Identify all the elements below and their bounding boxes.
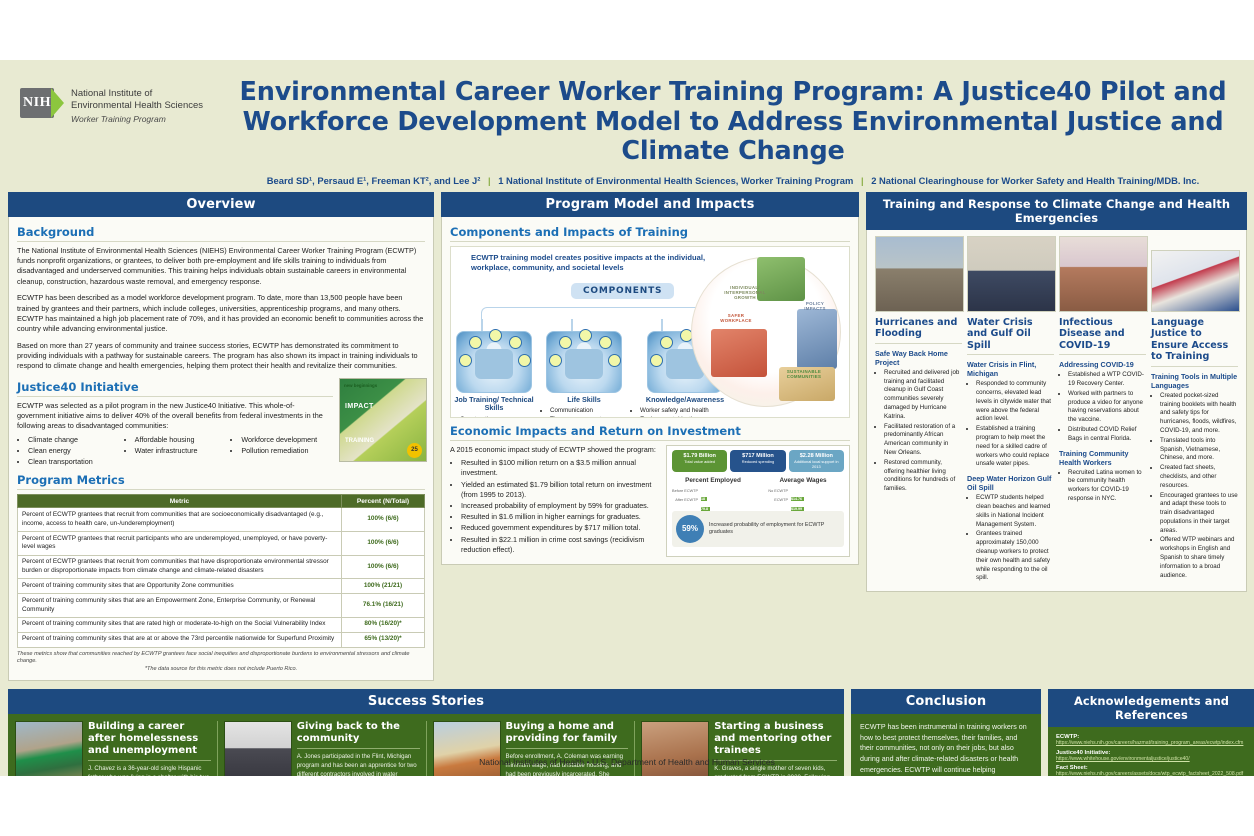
card-bullets: Responded to community concerns, elevate… [967, 380, 1054, 469]
percent-cell: 100% (6/6) [342, 532, 425, 556]
metrics-table-body: Percent of ECWTP grantees that recruit f… [18, 508, 425, 647]
bar-track: $19.99 [791, 497, 844, 504]
card-subhead-2: Training Community Health Workers [1059, 449, 1146, 467]
components-pill: COMPONENTS [571, 283, 674, 299]
cover-training-label: TRAINING [345, 438, 374, 445]
list-item: Water infrastructure [135, 446, 227, 456]
graphic-caption: ECWTP training model creates positive im… [451, 247, 721, 274]
card-bullets: Created pocket-sized training booklets w… [1151, 392, 1238, 581]
stat-label: Total value added [674, 460, 725, 465]
justice40-text-block: Justice40 Initiative ECWTP was selected … [17, 378, 333, 469]
list-item: Recruited Latina women to be community h… [1068, 469, 1146, 504]
nih-logo-arrow-icon [51, 88, 64, 118]
skill-dot-icon [559, 336, 572, 349]
component-cluster-job-training: Job Training/ Technical Skills Construct… [451, 331, 537, 418]
skill-dot-icon [489, 329, 502, 342]
list-item: Construction [460, 416, 537, 418]
training-card-water-crisis: Water Crisis and Gulf Oil Spill Water Cr… [967, 236, 1054, 584]
metric-cell: Percent of training community sites that… [18, 579, 342, 594]
economic-impacts-heading: Economic Impacts and Return on Investmen… [450, 424, 850, 441]
nih-logo: NIH National Institute of Environmental … [14, 74, 232, 125]
program-metrics-heading: Program Metrics [17, 473, 425, 490]
column-training-response: Training and Response to Climate Change … [866, 192, 1247, 592]
card-bullets-2: ECWTP students helped clean beaches and … [967, 494, 1054, 583]
chart-percent-employed: Percent Employed Before ECWTP 18 After E… [672, 477, 754, 506]
chart-title: Average Wages [762, 477, 844, 484]
roi-description: Increased probability of employment for … [709, 522, 840, 536]
bar-fill: 79.8 [701, 507, 710, 511]
bar-row: No ECWTP $14.76 [762, 487, 844, 494]
graphic-connector-tick-3 [661, 319, 663, 331]
card-title: Hurricanes and Flooding [875, 317, 962, 344]
percent-cell: 100% (21/21) [342, 579, 425, 594]
impacts-illustration: INDIVIDUAL/ INTERPERSONAL GROWTH SAFER W… [685, 251, 845, 411]
training-card-covid: Infectious Disease and COVID-19 Addressi… [1059, 236, 1146, 584]
story-title: Starting a business and mentoring other … [714, 721, 837, 761]
author-divider-1: | [483, 175, 496, 186]
author-line: Beard SD¹, Persaud E¹, Freeman KT², and … [232, 175, 1234, 186]
card-subhead: Safe Way Back Home Project [875, 349, 962, 367]
main-columns: Overview Background The National Institu… [0, 192, 1254, 681]
card-title: Infectious Disease and COVID-19 [1059, 317, 1146, 356]
nih-logo-icon: NIH [20, 88, 64, 118]
section-header-training-response: Training and Response to Climate Change … [866, 192, 1247, 230]
card-bullets: Recruited and delivered job training and… [875, 369, 962, 494]
list-item: Environmental justice [640, 416, 739, 418]
training-model-graphic: ECWTP training model creates positive im… [450, 246, 850, 418]
metric-cell: Percent of ECWTP grantees that recruit f… [18, 555, 342, 579]
impact-label-policy: POLICY IMPACTS [795, 301, 835, 311]
list-item: Offered WTP webinars and workshops in En… [1160, 536, 1238, 580]
bar-category-label: ECWTP [762, 498, 788, 502]
nih-logo-line3: Worker Training Program [71, 114, 203, 124]
bar-track: 79.8 [701, 497, 754, 504]
affiliation-2: 2 National Clearinghouse for Worker Safe… [871, 175, 1199, 186]
impact-label-community: SUSTAINABLE COMMUNITIES [777, 369, 831, 379]
percent-cell: 65% (13/20)* [342, 632, 425, 647]
table-row: Percent of ECWTP grantees that recruit p… [18, 532, 425, 556]
section-header-conclusion: Conclusion [851, 689, 1041, 714]
story-title: Giving back to the community [297, 721, 420, 749]
roi-percent-badge: 59% [676, 515, 704, 543]
percent-cell: 100% (6/6) [342, 555, 425, 579]
metric-cell: Percent of training community sites that… [18, 594, 342, 618]
poster-header: NIH National Institute of Environmental … [0, 60, 1254, 192]
component-cluster-life-skills: Life Skills Communication Time managemen… [541, 331, 627, 418]
economic-impacts-row: A 2015 economic impact study of ECWTP sh… [450, 445, 850, 557]
card-subhead: Addressing COVID-19 [1059, 360, 1146, 369]
cluster-items: Construction General industry safety Mol… [451, 416, 537, 418]
justice40-intro: ECWTP was selected as a pilot program in… [17, 401, 333, 432]
nih-logo-line1: National Institute of [71, 88, 203, 100]
list-item: Responded to community concerns, elevate… [976, 380, 1054, 424]
table-row: Percent of training community sites that… [18, 579, 425, 594]
list-item: Translated tools into Spanish, Vietnames… [1160, 437, 1238, 463]
training-response-panel: Hurricanes and Flooding Safe Way Back Ho… [866, 230, 1247, 592]
card-subhead: Water Crisis in Flint, Michigan [967, 360, 1054, 378]
section-header-acknowledgements: Acknowledgements and References [1048, 689, 1254, 727]
poster-footer: National Institutes of Health • U.S. Dep… [0, 757, 1254, 776]
chart-title: Percent Employed [672, 477, 754, 484]
stat-box-reduced-spending: $717 Million Reduced spending [730, 450, 785, 473]
training-card-hurricanes: Hurricanes and Flooding Safe Way Back Ho… [875, 236, 962, 584]
program-model-panel: Components and Impacts of Training ECWTP… [441, 217, 859, 565]
list-item: Established a WTP COVID-19 Recovery Cent… [1068, 371, 1146, 389]
list-item: Encouraged grantees to use and adapt the… [1160, 492, 1238, 536]
card-title: Language Justice to Ensure Access to Tra… [1151, 317, 1238, 367]
hazmat-suit-training-photo [967, 236, 1056, 312]
metric-cell: Percent of training community sites that… [18, 617, 342, 632]
section-header-overview: Overview [8, 192, 434, 217]
list-item: Restored community, offering healthier l… [884, 459, 962, 494]
figure-body [565, 349, 603, 379]
skill-dot-icon [459, 354, 472, 367]
overview-panel: Background The National Institute of Env… [8, 217, 434, 681]
nih-logo-text: National Institute of Environmental Heal… [71, 88, 203, 125]
list-item: Resulted in $22.1 million in crime cost … [461, 535, 660, 555]
poster-canvas: NIH National Institute of Environmental … [0, 60, 1254, 776]
justice40-heading: Justice40 Initiative [17, 380, 333, 397]
metrics-note-text: These metrics show that communities reac… [17, 651, 409, 665]
table-row: Percent of ECWTP grantees that recruit f… [18, 508, 425, 532]
economic-intro: A 2015 economic impact study of ECWTP sh… [450, 445, 660, 455]
graphic-connector-tick-2 [571, 319, 573, 331]
list-item: Established a training program to help m… [976, 425, 1054, 469]
table-row: Percent of training community sites that… [18, 632, 425, 647]
skill-dot-icon [608, 354, 621, 367]
background-heading: Background [17, 225, 425, 242]
table-row: Percent of training community sites that… [18, 617, 425, 632]
bar-category-label: No ECWTP [762, 489, 788, 493]
list-item: Affordable housing [135, 435, 227, 445]
economic-infographic: $1.79 Billion Total value added $717 Mil… [666, 445, 850, 557]
card-bullets: Established a WTP COVID-19 Recovery Cent… [1059, 371, 1146, 443]
cover-image-art: new beginnings IMPACT TRAINING 25 [339, 378, 427, 462]
anniversary-cover-image: new beginnings IMPACT TRAINING 25 [339, 378, 425, 469]
background-paragraph-2: ECWTP has been described as a model work… [17, 293, 425, 334]
list-item: Created fact sheets, checklists, and oth… [1160, 464, 1238, 490]
training-cards: Hurricanes and Flooding Safe Way Back Ho… [875, 236, 1238, 584]
author-names: Beard SD¹, Persaud E¹, Freeman KT², and … [267, 175, 481, 186]
metrics-note: These metrics show that communities reac… [17, 651, 425, 674]
card-bullets-2: Recruited Latina women to be community h… [1059, 469, 1146, 504]
column-program-model: Program Model and Impacts Components and… [441, 192, 859, 565]
bar-category-label: After ECWTP [672, 498, 698, 502]
justice40-bullets-col1: Climate change Clean energy Clean transp… [17, 435, 120, 469]
list-item: Facilitated restoration of a predominant… [884, 423, 962, 458]
list-item: Recruited and delivered job training and… [884, 369, 962, 422]
program-metrics-table: Metric Percent (N/Total) Percent of ECWT… [17, 494, 425, 647]
list-item: Clean transportation [28, 457, 120, 467]
background-paragraph-1: The National Institute of Environmental … [17, 246, 425, 287]
stat-box-total-value: $1.79 Billion Total value added [672, 450, 727, 473]
column-header-metric: Metric [18, 495, 342, 508]
cluster-items: Communication Time management Basic math… [541, 407, 627, 417]
skill-dot-icon [518, 354, 531, 367]
skill-dot-icon [549, 354, 562, 367]
justice40-bullets-col3: Workforce development Pollution remediat… [230, 435, 333, 469]
card-subhead-2: Deep Water Horizon Gulf Oil Spill [967, 474, 1054, 492]
section-header-success-stories: Success Stories [8, 689, 844, 714]
list-item: ECWTP students helped clean beaches and … [976, 494, 1054, 529]
skill-dot-icon [599, 336, 612, 349]
table-row: Percent of ECWTP grantees that recruit f… [18, 555, 425, 579]
card-subhead: Training Tools in Multiple Languages [1151, 372, 1238, 390]
skill-dot-icon [469, 336, 482, 349]
list-item: Distributed COVID Relief Bags in central… [1068, 426, 1146, 444]
stat-label: Reduced spending [732, 460, 783, 465]
cover-top-text: new beginnings [344, 383, 377, 388]
list-item: Communication [550, 407, 627, 415]
author-divider-2: | [856, 175, 869, 186]
chart-average-wages: Average Wages No ECWTP $14.76 ECWTP $19.… [762, 477, 844, 506]
list-item: Increased probability of employment by 5… [461, 501, 660, 511]
list-item: Created pocket-sized training booklets w… [1160, 392, 1238, 436]
impact-figure-workplace [711, 329, 767, 377]
list-item: Worked with partners to produce a video … [1068, 390, 1146, 425]
metric-cell: Percent of ECWTP grantees that recruit p… [18, 532, 342, 556]
life-skills-illustration [546, 331, 622, 393]
list-item: Climate change [28, 435, 120, 445]
metrics-footnote: *The data source for this metric does no… [17, 666, 425, 674]
cluster-label: Job Training/ Technical Skills [451, 396, 537, 413]
bar-fill: $19.99 [791, 507, 804, 511]
multilingual-training-booklets-photo [1151, 250, 1240, 312]
metric-cell: Percent of ECWTP grantees that recruit f… [18, 508, 342, 532]
list-item: Workforce development [241, 435, 333, 445]
list-item: Resulted in $1.6 million in higher earni… [461, 512, 660, 522]
list-item: Yielded an estimated $1.79 billion total… [461, 480, 660, 500]
job-training-illustration [456, 331, 532, 393]
metric-cell: Percent of training community sites that… [18, 632, 342, 647]
skill-dot-icon [509, 336, 522, 349]
bar-row: After ECWTP 79.8 [672, 497, 754, 504]
list-item: Grantees trained approximately 150,000 c… [976, 530, 1054, 583]
story-title: Buying a home and providing for family [506, 721, 629, 749]
justice40-bullet-columns: Climate change Clean energy Clean transp… [17, 434, 333, 469]
skill-dot-icon [650, 354, 663, 367]
nih-logo-mark-text: NIH [20, 88, 54, 118]
stat-label: Additional local support in 2013 [791, 460, 842, 469]
components-heading: Components and Impacts of Training [450, 225, 850, 242]
impact-figure-policy [797, 309, 837, 369]
bar-track: $14.76 [791, 487, 844, 494]
section-header-program-model: Program Model and Impacts [441, 192, 859, 217]
figure-body [475, 349, 513, 379]
list-item: Reduced government expenditures by $717 … [461, 523, 660, 533]
poster-title: Environmental Career Worker Training Pro… [232, 78, 1234, 167]
percent-cell: 76.1% (16/21) [342, 594, 425, 618]
percent-cell: 100% (6/6) [342, 508, 425, 532]
bar-category-label: Before ECWTP [672, 489, 698, 493]
anniversary-badge: 25 [407, 443, 422, 458]
impact-label-individual: INDIVIDUAL/ INTERPERSONAL GROWTH [719, 285, 771, 300]
bar-row: ECWTP $19.99 [762, 497, 844, 504]
graphic-connector-tick-1 [481, 319, 483, 331]
title-block: Environmental Career Worker Training Pro… [232, 74, 1240, 186]
reference-link-ecwtp[interactable]: https://www.niehs.nih.gov/careers/hazmat… [1056, 740, 1247, 747]
nih-logo-line2: Environmental Health Sciences [71, 100, 203, 112]
story-title: Building a career after homelessness and… [88, 721, 211, 761]
economic-bullets: Resulted in $100 million return on a $3.… [450, 458, 660, 555]
affiliation-1: 1 National Institute of Environmental He… [498, 175, 853, 186]
table-header-row: Metric Percent (N/Total) [18, 495, 425, 508]
impact-label-workplace: SAFER WORKPLACE [713, 313, 759, 323]
percent-cell: 80% (16/20)* [342, 617, 425, 632]
list-item: Resulted in $100 million return on a $3.… [461, 458, 660, 478]
stat-box-local-support: $2.28 Million Additional local support i… [789, 450, 844, 473]
justice40-bullets-col2: Affordable housing Water infrastructure [124, 435, 227, 469]
cover-impact-label: IMPACT [345, 403, 374, 410]
card-title: Water Crisis and Gulf Oil Spill [967, 317, 1054, 356]
training-card-language-justice: Language Justice to Ensure Access to Tra… [1151, 236, 1238, 584]
table-row: Percent of training community sites that… [18, 594, 425, 618]
justice40-block: Justice40 Initiative ECWTP was selected … [17, 378, 425, 469]
list-item: Pollution remediation [241, 446, 333, 456]
bar-row: Before ECWTP 18 [672, 487, 754, 494]
covid-outreach-workers-photo [1059, 236, 1148, 312]
bar-track: 18 [701, 487, 754, 494]
column-overview: Overview Background The National Institu… [8, 192, 434, 681]
background-paragraph-3: Based on more than 27 years of community… [17, 341, 425, 372]
economic-bullets-block: A 2015 economic impact study of ECWTP sh… [450, 445, 660, 557]
roi-callout: 59% Increased probability of employment … [672, 511, 844, 547]
column-header-percent: Percent (N/Total) [342, 495, 425, 508]
stat-boxes-row: $1.79 Billion Total value added $717 Mil… [672, 450, 844, 473]
hurricane-recovery-group-photo [875, 236, 964, 312]
infographic-charts: Percent Employed Before ECWTP 18 After E… [672, 477, 844, 506]
list-item: Time management [550, 416, 627, 418]
skill-dot-icon [579, 329, 592, 342]
skill-dot-icon [660, 336, 673, 349]
list-item: Clean energy [28, 446, 120, 456]
cluster-label: Life Skills [541, 396, 627, 405]
